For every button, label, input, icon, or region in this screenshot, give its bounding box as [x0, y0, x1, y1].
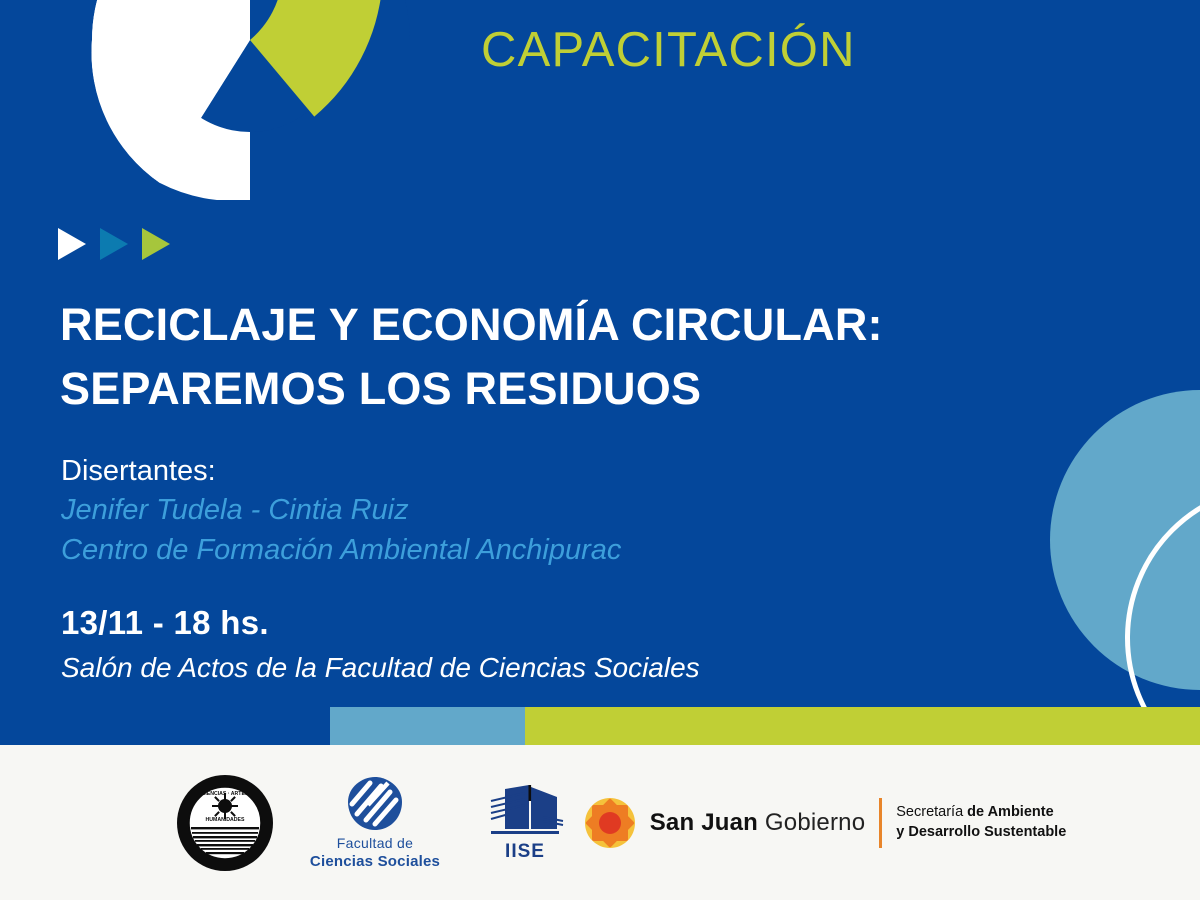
color-bar-light-blue	[330, 707, 525, 745]
event-datetime: 13/11 - 18 hs.	[61, 603, 269, 643]
secretariat-text: Secretaría de Ambiente y Desarrollo Sust…	[896, 803, 1066, 842]
san-juan-bold: San Juan	[650, 809, 758, 836]
speakers-names: Jenifer Tudela - Cintia Ruiz	[61, 490, 961, 530]
speakers-label: Disertantes:	[61, 452, 961, 490]
fcs-label-line2: Ciencias Sociales	[310, 853, 440, 870]
san-juan-gobierno-logo: San Juan Gobierno Secretaría de Ambiente…	[600, 797, 1050, 849]
secretariat-bold: de Ambiente	[967, 804, 1053, 820]
san-juan-sun-icon	[584, 797, 636, 849]
title-line-2: SEPAREMOS LOS RESIDUOS	[60, 357, 1040, 421]
poster-root: CAPACITACIÓN RECICLAJE Y ECONOMÍA CIRCUL…	[0, 0, 1200, 900]
brand-mark-icon	[0, 0, 470, 200]
facultad-ciencias-sociales-logo: Facultad de Ciencias Sociales	[300, 775, 450, 870]
arrow-group	[58, 228, 170, 260]
secretariat-line-1: Secretaría de Ambiente	[896, 803, 1066, 823]
unsj-seal-icon: CIENCIAS · ARTES HUMANIDADES	[175, 773, 275, 873]
secretariat-line-2-text: y Desarrollo Sustentable	[896, 824, 1066, 840]
speakers-block: Disertantes: Jenifer Tudela - Cintia Rui…	[61, 452, 961, 570]
color-bar-spacer	[0, 707, 330, 745]
iise-building-icon	[485, 783, 565, 839]
secretariat-line-2: y Desarrollo Sustentable	[896, 823, 1066, 843]
san-juan-divider	[879, 798, 882, 848]
san-juan-wordmark: San Juan Gobierno	[650, 809, 866, 837]
color-bar	[0, 707, 1200, 745]
triangle-green-icon	[142, 228, 170, 260]
san-juan-row: San Juan Gobierno Secretaría de Ambiente…	[584, 797, 1067, 849]
iise-logo: IISE	[450, 783, 600, 863]
blue-background-panel: CAPACITACIÓN RECICLAJE Y ECONOMÍA CIRCUL…	[0, 0, 1200, 745]
svg-text:HUMANIDADES: HUMANIDADES	[206, 817, 245, 823]
outline-ring-large-decor	[1125, 483, 1200, 745]
fcs-label-line1: Facultad de	[337, 835, 413, 851]
triangle-white-icon	[58, 228, 86, 260]
fcs-mark-icon	[344, 775, 406, 833]
title-line-1: RECICLAJE Y ECONOMÍA CIRCULAR:	[60, 293, 1040, 357]
event-venue: Salón de Actos de la Facultad de Ciencia…	[61, 651, 700, 685]
kicker-text: CAPACITACIÓN	[481, 26, 856, 75]
unsj-seal-logo: CIENCIAS · ARTES HUMANIDADES	[150, 773, 300, 873]
speakers-organization: Centro de Formación Ambiental Anchipurac	[61, 530, 961, 570]
svg-text:CIENCIAS · ARTES: CIENCIAS · ARTES	[202, 791, 249, 797]
page-title: RECICLAJE Y ECONOMÍA CIRCULAR: SEPAREMOS…	[60, 293, 1040, 421]
iise-label: IISE	[505, 841, 545, 863]
color-bar-green	[525, 707, 1200, 745]
footer-logo-strip: CIENCIAS · ARTES HUMANIDADES	[0, 745, 1200, 900]
triangle-teal-icon	[100, 228, 128, 260]
filled-disc-decor	[1050, 390, 1200, 690]
secretariat-light: Secretaría	[896, 804, 967, 820]
san-juan-light: Gobierno	[765, 809, 865, 836]
